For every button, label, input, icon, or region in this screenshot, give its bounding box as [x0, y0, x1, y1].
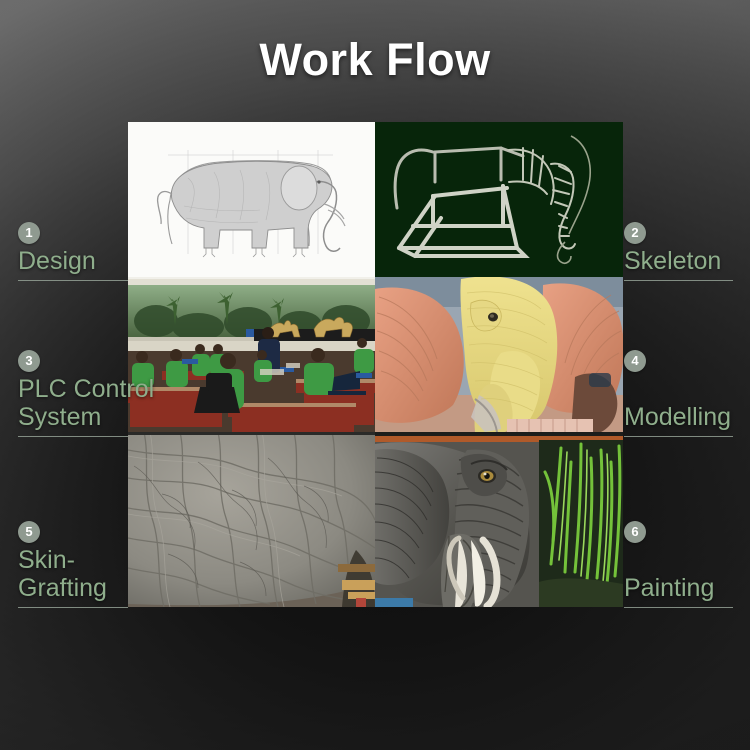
step-2-number-badge: 2	[624, 222, 646, 244]
step-6-label: Painting	[624, 574, 733, 602]
step-2-underline	[624, 280, 733, 281]
step-3-label: PLC Control System	[18, 375, 168, 431]
step-4-label-group: 4 Modelling	[582, 350, 733, 437]
step-1-label-group: 1 Design	[18, 222, 168, 281]
step-6-number-badge: 6	[624, 521, 646, 543]
step-5-label: Skin- Grafting	[18, 546, 168, 602]
step-4-underline	[624, 436, 733, 437]
step-5-underline	[18, 607, 128, 608]
step-1-label: Design	[18, 247, 168, 275]
workflow-poster: Work Flow	[0, 0, 750, 750]
step-1-underline	[18, 280, 128, 281]
step-6-underline	[624, 607, 733, 608]
step-2-label: Skeleton	[624, 247, 733, 275]
step-3-number-badge: 3	[18, 350, 40, 372]
step-6-label-group: 6 Painting	[582, 521, 733, 608]
step-2-label-group: 2 Skeleton	[582, 222, 733, 281]
step-3-label-group: 3 PLC Control System	[18, 350, 168, 437]
step-5-number-badge: 5	[18, 521, 40, 543]
step-1-number-badge: 1	[18, 222, 40, 244]
step-5-label-group: 5 Skin- Grafting	[18, 521, 168, 608]
step-3-underline	[18, 436, 128, 437]
step-4-label: Modelling	[624, 403, 733, 431]
page-title: Work Flow	[0, 34, 750, 86]
workflow-image-grid	[128, 122, 623, 607]
step-4-number-badge: 4	[624, 350, 646, 372]
